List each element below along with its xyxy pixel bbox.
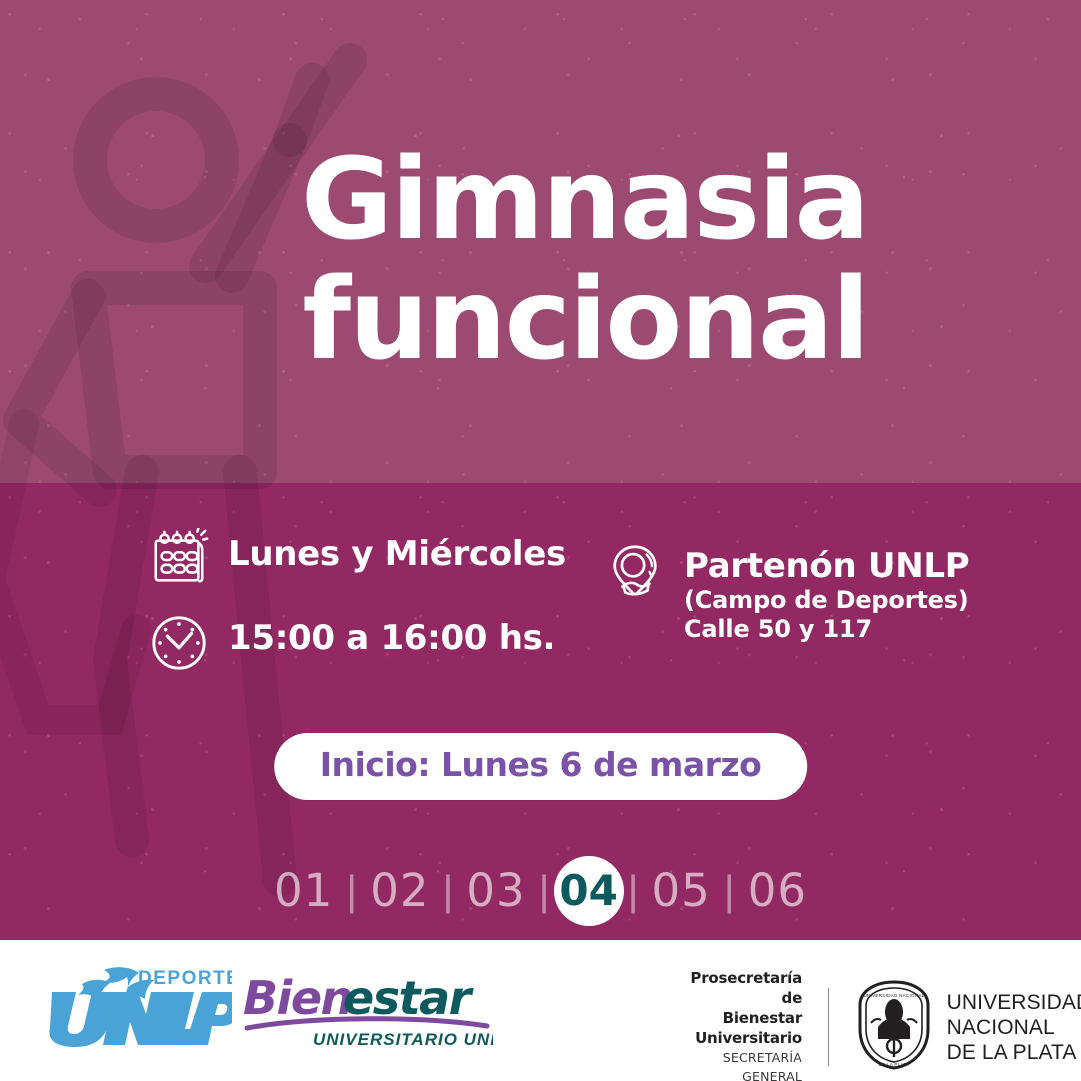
svg-text:UNIVERSIDAD NACIONAL: UNIVERSIDAD NACIONAL bbox=[863, 993, 924, 998]
pagination-separator: | bbox=[628, 860, 639, 922]
footer-institutional-block: Prosecretaría de Bienestar Universitario… bbox=[690, 968, 1081, 1081]
unlp-institutional-logo: UNIVERSIDAD NACIONAL DE LA PLATA UNIVERS… bbox=[855, 979, 1081, 1076]
page-title: Gimnasia funcional bbox=[0, 140, 1081, 380]
deportes-supertext: DEPORTES bbox=[138, 968, 232, 989]
pagination-item-06[interactable]: 06 bbox=[735, 856, 820, 926]
unlp-seal-icon: UNIVERSIDAD NACIONAL DE LA PLATA bbox=[855, 979, 933, 1076]
pagination-item-04-active[interactable]: 04 bbox=[554, 856, 624, 926]
svg-text:DE LA PLATA: DE LA PLATA bbox=[878, 1062, 909, 1067]
unlp-name-text: UNIVERSIDAD NACIONAL DE LA PLATA bbox=[947, 990, 1081, 1065]
pagination[interactable]: 01 | 02 | 03 | 04 | 05 | 06 bbox=[0, 856, 1081, 926]
title-line-1: Gimnasia bbox=[0, 140, 868, 260]
location-address: Calle 50 y 117 bbox=[684, 615, 969, 644]
pagination-separator: | bbox=[539, 860, 550, 922]
prosecretaria-line1: Prosecretaría de bbox=[690, 968, 802, 1008]
unlp-line1: UNIVERSIDAD bbox=[947, 990, 1081, 1015]
calendar-icon bbox=[148, 528, 210, 590]
pagination-item-02[interactable]: 02 bbox=[357, 856, 442, 926]
schedule-days-value: Lunes y Miércoles bbox=[228, 534, 566, 574]
bienestar-subtitle: UNIVERSITARIO UNLP bbox=[313, 1030, 493, 1049]
location-text: Partenón UNLP (Campo de Deportes) Calle … bbox=[684, 540, 969, 644]
footer-divider bbox=[828, 988, 829, 1066]
deportes-unlp-logo: DEPORTES bbox=[42, 964, 232, 1053]
footer-bar: DEPORTES Bien estar UNIVERSITARIO UNLP P… bbox=[0, 940, 1081, 1081]
map-pin-icon bbox=[604, 540, 666, 602]
pagination-item-05[interactable]: 05 bbox=[639, 856, 724, 926]
bienestar-logo: Bien estar UNIVERSITARIO UNLP bbox=[243, 970, 493, 1055]
info-section: Lunes y Miércoles bbox=[0, 528, 1081, 698]
unlp-line3: DE LA PLATA bbox=[947, 1040, 1081, 1065]
prosecretaria-block: Prosecretaría de Bienestar Universitario… bbox=[690, 968, 802, 1081]
schedule-time-text: 15:00 a 16:00 hs. bbox=[228, 612, 555, 658]
start-date-label: Inicio: Lunes 6 de marzo bbox=[320, 745, 762, 784]
prosecretaria-line3: SECRETARÍA GENERAL bbox=[690, 1048, 802, 1081]
pagination-separator: | bbox=[724, 860, 735, 922]
pagination-item-03[interactable]: 03 bbox=[453, 856, 538, 926]
schedule-time-value: 15:00 a 16:00 hs. bbox=[228, 618, 555, 658]
location-detail: (Campo de Deportes) bbox=[684, 586, 969, 615]
title-line-2: funcional bbox=[0, 260, 868, 380]
schedule-column: Lunes y Miércoles bbox=[148, 528, 578, 674]
clock-icon bbox=[148, 612, 210, 674]
pagination-item-01[interactable]: 01 bbox=[261, 856, 346, 926]
schedule-time-row: 15:00 a 16:00 hs. bbox=[148, 612, 578, 674]
location-row: Partenón UNLP (Campo de Deportes) Calle … bbox=[604, 540, 1034, 644]
schedule-days-text: Lunes y Miércoles bbox=[228, 528, 566, 574]
pagination-separator: | bbox=[346, 860, 357, 922]
location-name: Partenón UNLP bbox=[684, 546, 969, 586]
location-column: Partenón UNLP (Campo de Deportes) Calle … bbox=[604, 540, 1034, 644]
unlp-line2: NACIONAL bbox=[947, 1015, 1081, 1040]
start-date-badge: Inicio: Lunes 6 de marzo bbox=[274, 733, 808, 800]
pagination-separator: | bbox=[442, 860, 453, 922]
schedule-days-row: Lunes y Miércoles bbox=[148, 528, 578, 590]
prosecretaria-line2: Bienestar Universitario bbox=[690, 1008, 802, 1048]
poster-canvas: Gimnasia funcional bbox=[0, 0, 1081, 1081]
